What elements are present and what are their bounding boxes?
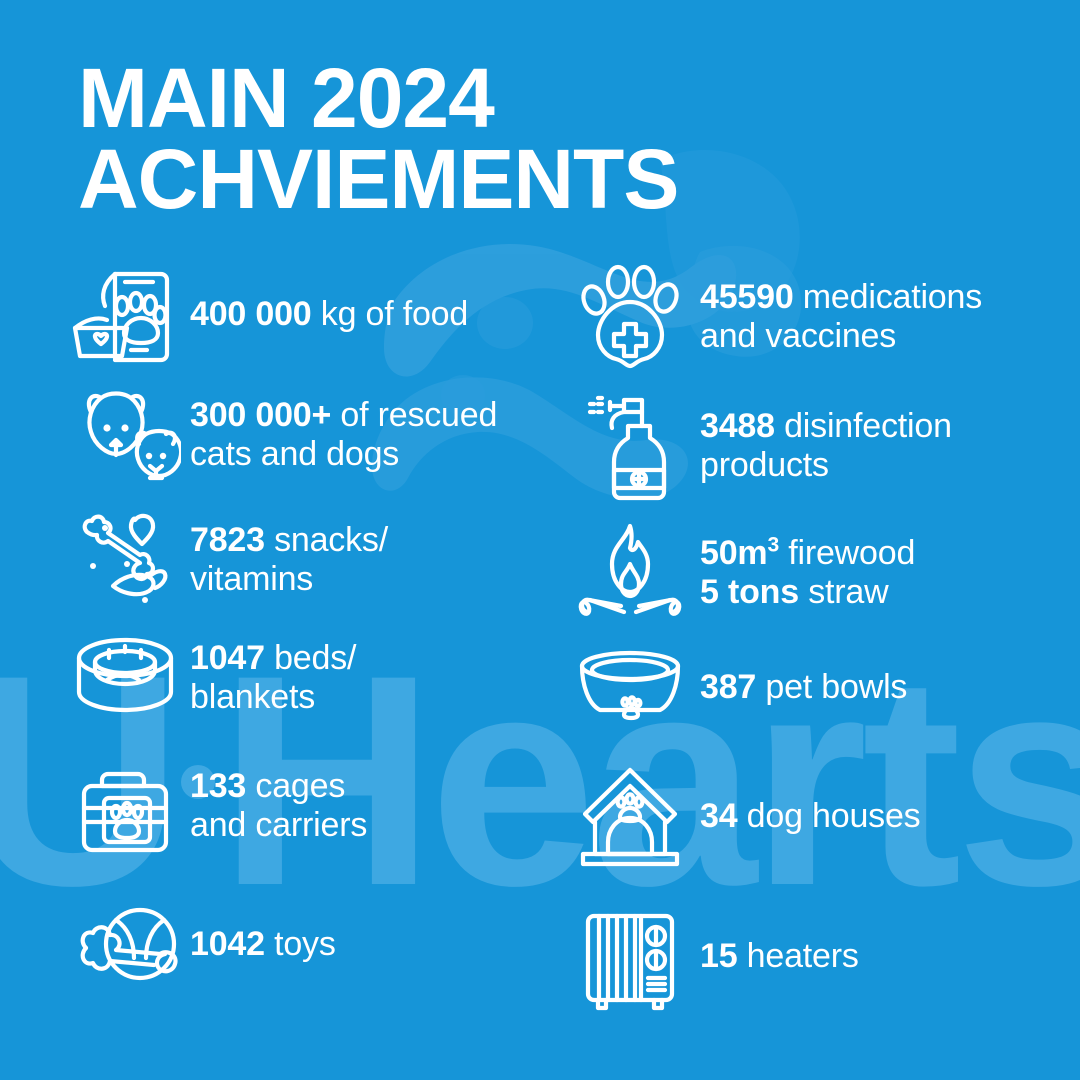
stat-row: 133 cagesand carriers	[60, 752, 530, 860]
stat-label: pet bowls	[765, 668, 907, 706]
stat-text: 1042 toys	[190, 925, 336, 964]
stat-value: 50m	[700, 534, 767, 572]
stat-row: 45590 medicationsand vaccines	[560, 262, 1060, 372]
dog-cat-icon	[60, 382, 190, 488]
stat-row: 15 heaters	[560, 902, 1060, 1012]
stat-value: 1042	[190, 925, 265, 963]
stat-text: 3488 disinfectionproducts	[700, 407, 952, 486]
stat-text: 45590 medicationsand vaccines	[700, 278, 982, 357]
toys-icon	[60, 902, 190, 988]
stat-row: 400 000 kg of food	[60, 262, 530, 368]
treats-icon	[60, 510, 190, 610]
stat-unit-exponent: 3	[767, 533, 779, 556]
stat-text: 133 cagesand carriers	[190, 767, 367, 846]
infographic-page: MAIN 2024 ACHVIEMENTS 400 000 kg of food	[0, 0, 1080, 1080]
stat-value: 1047	[190, 639, 265, 677]
stat-label: dog houses	[747, 797, 921, 835]
page-title: MAIN 2024 ACHVIEMENTS	[78, 58, 678, 221]
stat-row: 7823 snacks/vitamins	[60, 510, 530, 610]
dog-house-icon	[560, 762, 700, 872]
stat-text: 387 pet bowls	[700, 668, 907, 707]
stat-text: 50m3 firewood5 tons straw	[700, 534, 915, 613]
stat-row: 300 000+ of rescuedcats and dogs	[60, 382, 530, 488]
stat-text: 300 000+ of rescuedcats and dogs	[190, 396, 497, 475]
stat-label: firewood	[788, 534, 915, 572]
stat-text: 34 dog houses	[700, 797, 920, 836]
stat-value: 45590	[700, 278, 794, 316]
stat-text: 400 000 kg of food	[190, 295, 468, 334]
heater-icon	[560, 902, 700, 1012]
stat-row: 3488 disinfectionproducts	[560, 390, 1060, 502]
pet-bowl-icon	[560, 650, 700, 726]
pet-bed-icon	[60, 632, 190, 724]
stat-row: 1047 beds/blankets	[60, 632, 530, 724]
food-bag-icon	[60, 262, 190, 368]
stat-row: 50m3 firewood5 tons straw	[560, 520, 1060, 626]
stat-label: toys	[274, 925, 336, 963]
stat-value: 7823	[190, 521, 265, 559]
stat-value: 133	[190, 767, 246, 805]
campfire-icon	[560, 520, 700, 626]
stat-row: 34 dog houses	[560, 762, 1060, 872]
paw-medical-icon	[560, 262, 700, 372]
stat-value: 3488	[700, 407, 775, 445]
stat-label: kg of food	[321, 295, 468, 333]
stat-row: 1042 toys	[60, 902, 530, 988]
spray-bottle-icon	[560, 390, 700, 502]
stat-text: 15 heaters	[700, 937, 859, 976]
stat-row: 387 pet bowls	[560, 650, 1060, 726]
stat-value-secondary: 5 tons	[700, 573, 799, 611]
stat-value: 15	[700, 937, 737, 975]
stat-value: 300 000+	[190, 396, 331, 434]
stat-text: 1047 beds/blankets	[190, 639, 356, 718]
stat-value: 400 000	[190, 295, 312, 333]
stat-label-secondary: straw	[808, 573, 888, 611]
stat-value: 34	[700, 797, 737, 835]
stat-label: heaters	[747, 937, 859, 975]
pet-carrier-icon	[60, 752, 190, 860]
stat-text: 7823 snacks/vitamins	[190, 521, 388, 600]
stat-value: 387	[700, 668, 756, 706]
